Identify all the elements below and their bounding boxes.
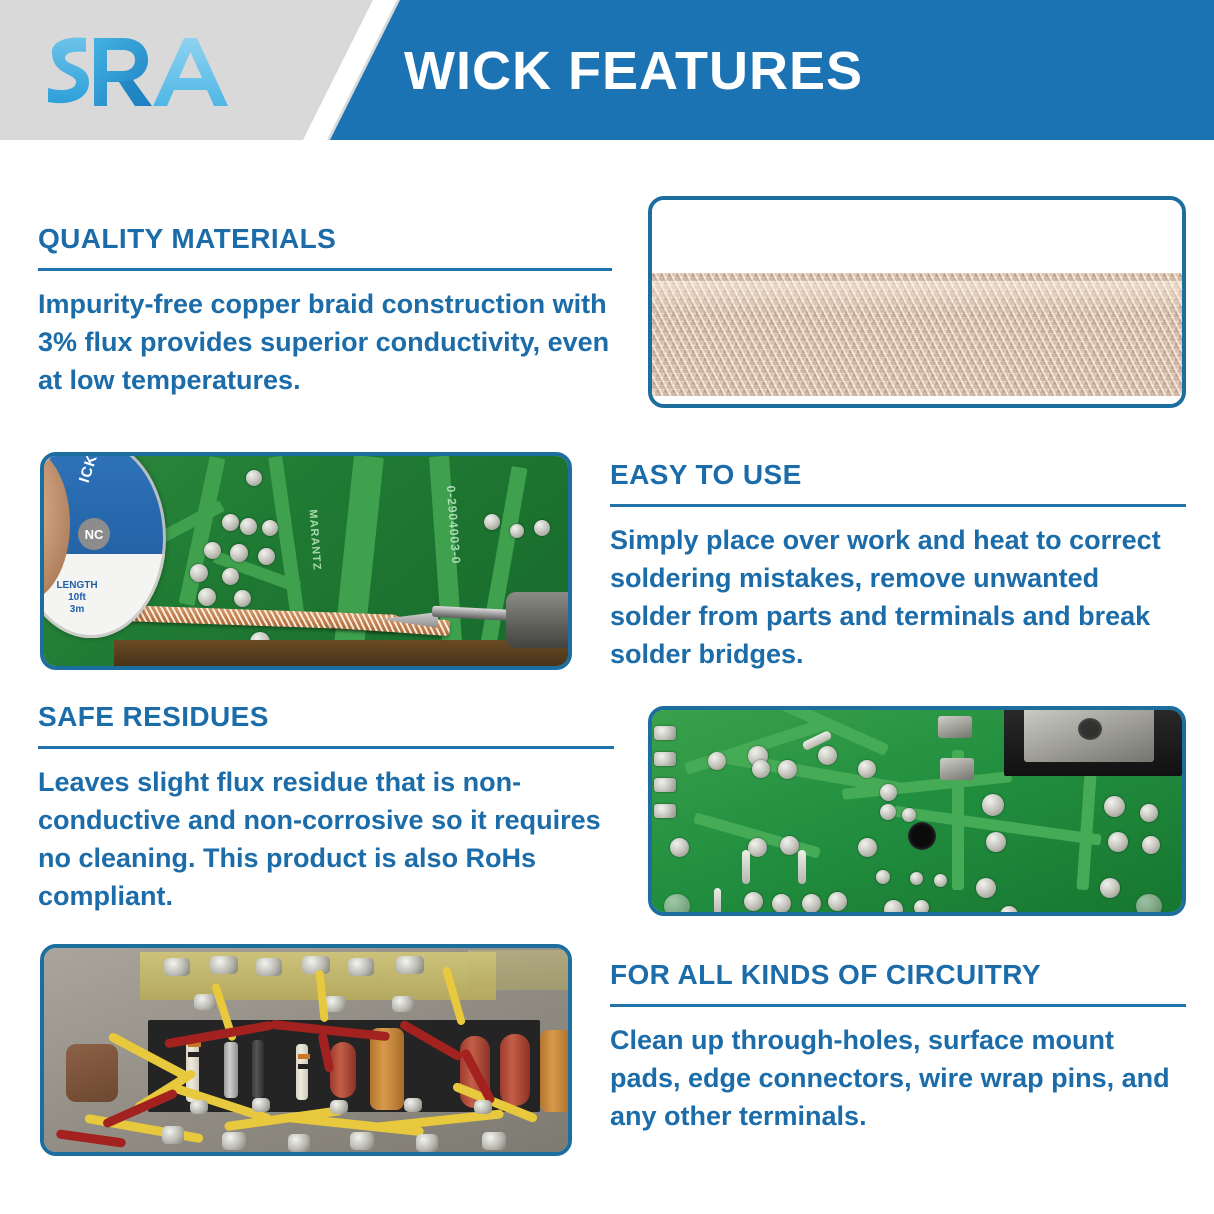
photo-copper-braid-closeup [648, 196, 1186, 408]
feature-block-easy-to-use: EASY TO USE Simply place over work and h… [610, 458, 1186, 673]
heading-rule [610, 504, 1186, 507]
feature-body-safe-residues: Leaves slight flux residue that is non-c… [38, 763, 614, 915]
feature-body-easy-to-use: Simply place over work and heat to corre… [610, 521, 1186, 673]
feature-block-safe-residues: SAFE RESIDUES Leaves slight flux residue… [38, 700, 614, 915]
vintage-circuit [44, 948, 568, 1152]
infographic-page: WICK FEATURES QUALITY MATERIALS Impurity… [0, 0, 1214, 1214]
feature-body-quality-materials: Impurity-free copper braid construction … [38, 285, 612, 399]
feature-heading-for-all-kinds-of-circuitry: FOR ALL KINDS OF CIRCUITRY [610, 958, 1186, 992]
heading-rule [38, 268, 612, 271]
feature-heading-quality-materials: QUALITY MATERIALS [38, 222, 612, 256]
page-title: WICK FEATURES [404, 38, 1184, 108]
feature-body-for-all-kinds-of-circuitry: Clean up through-holes, surface mount pa… [610, 1021, 1186, 1135]
sra-logo-icon [36, 30, 266, 116]
pcb-through-hole [908, 822, 936, 850]
sra-logo [36, 30, 266, 116]
heading-rule [610, 1004, 1186, 1007]
pcb-background: MARANTZ 0-2904003-0 [44, 456, 568, 666]
pcb-silkscreen-brand: MARANTZ [307, 509, 323, 571]
green-pcb [652, 710, 1182, 912]
copper-braid-body [652, 273, 1182, 395]
feature-heading-safe-residues: SAFE RESIDUES [38, 700, 614, 734]
photo-wick-spool-on-pcb: MARANTZ 0-2904003-0 [40, 452, 572, 670]
heading-rule [38, 746, 614, 749]
page-header: WICK FEATURES [0, 0, 1214, 140]
solder-wick-spool: ICK NC LENGTH 10ft 3m [44, 456, 166, 638]
feature-heading-easy-to-use: EASY TO USE [610, 458, 1186, 492]
photo-vintage-point-to-point-circuit [40, 944, 572, 1156]
feature-block-quality-materials: QUALITY MATERIALS Impurity-free copper b… [38, 222, 612, 399]
soldering-iron-grip [506, 592, 568, 648]
photo-green-pcb-solder-pads [648, 706, 1186, 916]
feature-block-for-all-kinds-of-circuitry: FOR ALL KINDS OF CIRCUITRY Clean up thro… [610, 958, 1186, 1135]
